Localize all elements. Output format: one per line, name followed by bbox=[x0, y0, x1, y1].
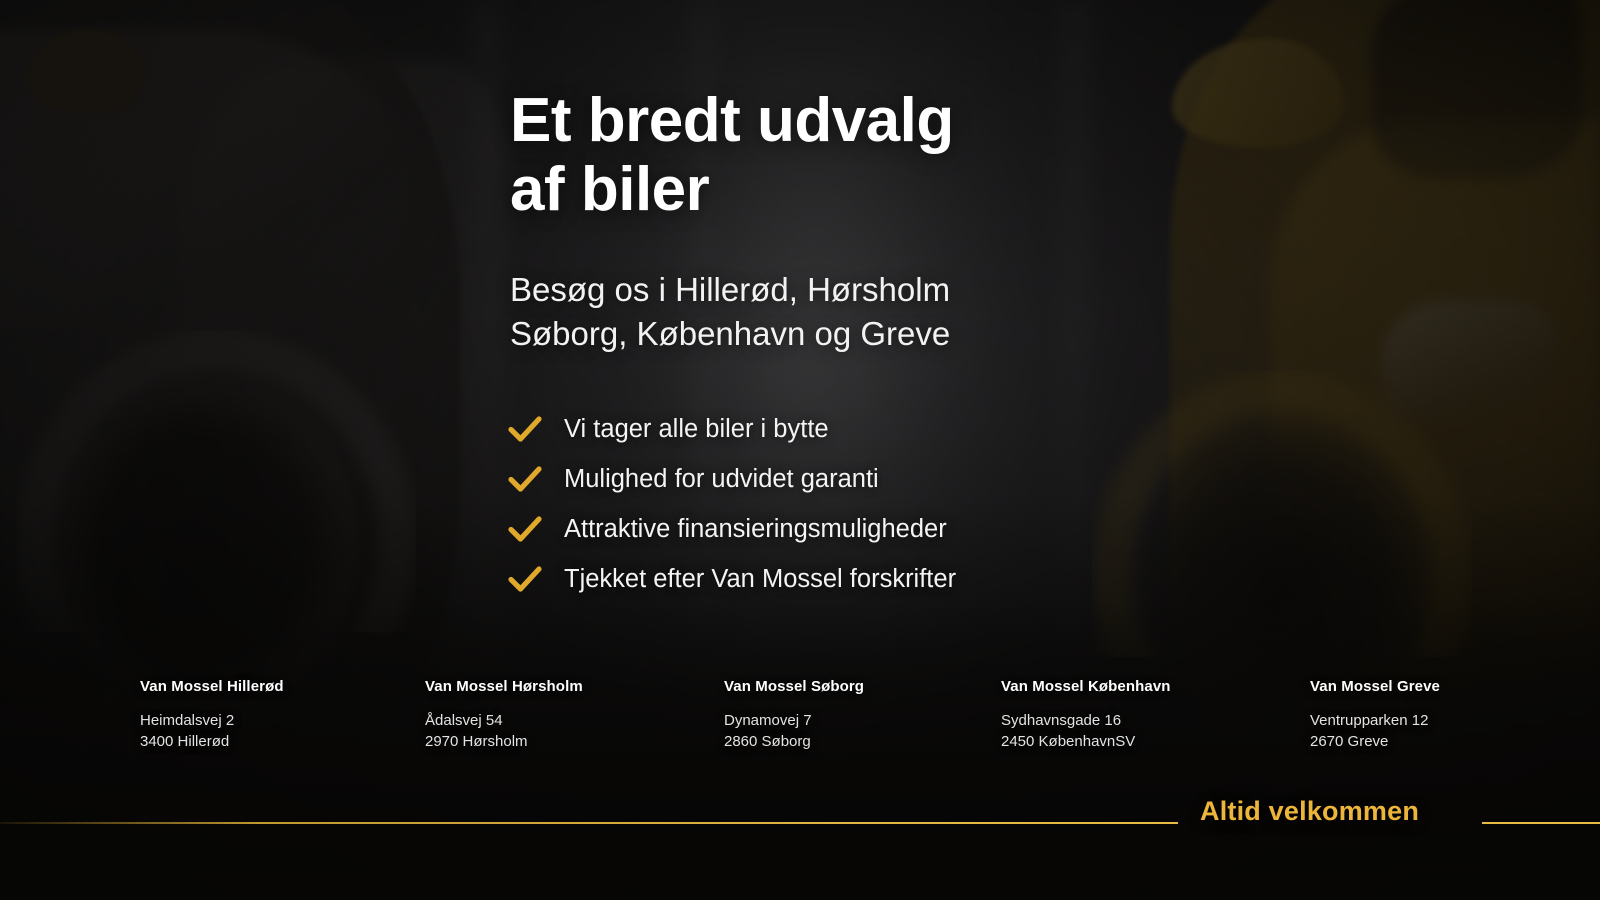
tagline: Altid velkommen bbox=[1200, 796, 1419, 827]
headline-line-2: af biler bbox=[510, 155, 709, 224]
footer-divider-left bbox=[0, 822, 1178, 824]
dealer-card-soborg[interactable]: Van Mossel Søborg Dynamovej 7 2860 Søbor… bbox=[724, 678, 864, 752]
dealer-name: Van Mossel København bbox=[1001, 678, 1171, 695]
promo-banner: Et bredt udvalg af biler Besøg os i Hill… bbox=[0, 0, 1600, 900]
dealer-street: Dynamovej 7 bbox=[724, 712, 812, 729]
check-icon bbox=[508, 564, 542, 594]
check-icon bbox=[508, 464, 542, 494]
list-item: Tjekket efter Van Mossel forskrifter bbox=[508, 554, 956, 604]
dealer-address: Dynamovej 7 2860 Søborg bbox=[724, 711, 864, 752]
headline-line-1: Et bredt udvalg bbox=[510, 86, 954, 155]
dealer-street: Ådalsvej 54 bbox=[425, 712, 503, 729]
dealer-card-greve[interactable]: Van Mossel Greve Ventrupparken 12 2670 G… bbox=[1310, 678, 1440, 752]
dealer-city: 2970 Hørsholm bbox=[425, 733, 528, 750]
subtitle: Besøg os i Hillerød, Hørsholm Søborg, Kø… bbox=[510, 268, 1130, 356]
dealer-card-hillerod[interactable]: Van Mossel Hillerød Heimdalsvej 2 3400 H… bbox=[140, 678, 284, 752]
feature-list: Vi tager alle biler i bytte Mulighed for… bbox=[508, 404, 956, 604]
dealership-list: Van Mossel Hillerød Heimdalsvej 2 3400 H… bbox=[0, 678, 1600, 768]
feature-label: Vi tager alle biler i bytte bbox=[564, 415, 829, 444]
dealer-address: Sydhavnsgade 16 2450 KøbenhavnSV bbox=[1001, 711, 1171, 752]
list-item: Vi tager alle biler i bytte bbox=[508, 404, 956, 454]
banner-footer: Altid velkommen bbox=[0, 796, 1600, 852]
dealer-address: Ventrupparken 12 2670 Greve bbox=[1310, 711, 1440, 752]
dealer-card-kobenhavn[interactable]: Van Mossel København Sydhavnsgade 16 245… bbox=[1001, 678, 1171, 752]
footer-divider-right bbox=[1482, 822, 1600, 824]
dealer-street: Sydhavnsgade 16 bbox=[1001, 712, 1121, 729]
dealer-name: Van Mossel Hørsholm bbox=[425, 678, 583, 695]
dealer-address: Heimdalsvej 2 3400 Hillerød bbox=[140, 711, 284, 752]
dealer-name: Van Mossel Hillerød bbox=[140, 678, 284, 695]
check-icon bbox=[508, 514, 542, 544]
dealer-name: Van Mossel Greve bbox=[1310, 678, 1440, 695]
dealer-city: 2670 Greve bbox=[1310, 733, 1388, 750]
dealer-card-horsholm[interactable]: Van Mossel Hørsholm Ådalsvej 54 2970 Hør… bbox=[425, 678, 583, 752]
dealer-city: 2450 KøbenhavnSV bbox=[1001, 733, 1135, 750]
dealer-name: Van Mossel Søborg bbox=[724, 678, 864, 695]
dealer-city: 3400 Hillerød bbox=[140, 733, 229, 750]
dealer-street: Heimdalsvej 2 bbox=[140, 712, 234, 729]
feature-label: Attraktive finansieringsmuligheder bbox=[564, 515, 947, 544]
subtitle-line-1: Besøg os i Hillerød, Hørsholm bbox=[510, 271, 950, 308]
banner-content: Et bredt udvalg af biler Besøg os i Hill… bbox=[0, 0, 1600, 900]
subtitle-line-2: Søborg, København og Greve bbox=[510, 315, 950, 352]
dealer-street: Ventrupparken 12 bbox=[1310, 712, 1428, 729]
feature-label: Mulighed for udvidet garanti bbox=[564, 465, 879, 494]
dealer-address: Ådalsvej 54 2970 Hørsholm bbox=[425, 711, 583, 752]
dealer-city: 2860 Søborg bbox=[724, 733, 811, 750]
list-item: Attraktive finansieringsmuligheder bbox=[508, 504, 956, 554]
page-title: Et bredt udvalg af biler bbox=[510, 86, 1130, 225]
feature-label: Tjekket efter Van Mossel forskrifter bbox=[564, 565, 956, 594]
check-icon bbox=[508, 414, 542, 444]
list-item: Mulighed for udvidet garanti bbox=[508, 454, 956, 504]
